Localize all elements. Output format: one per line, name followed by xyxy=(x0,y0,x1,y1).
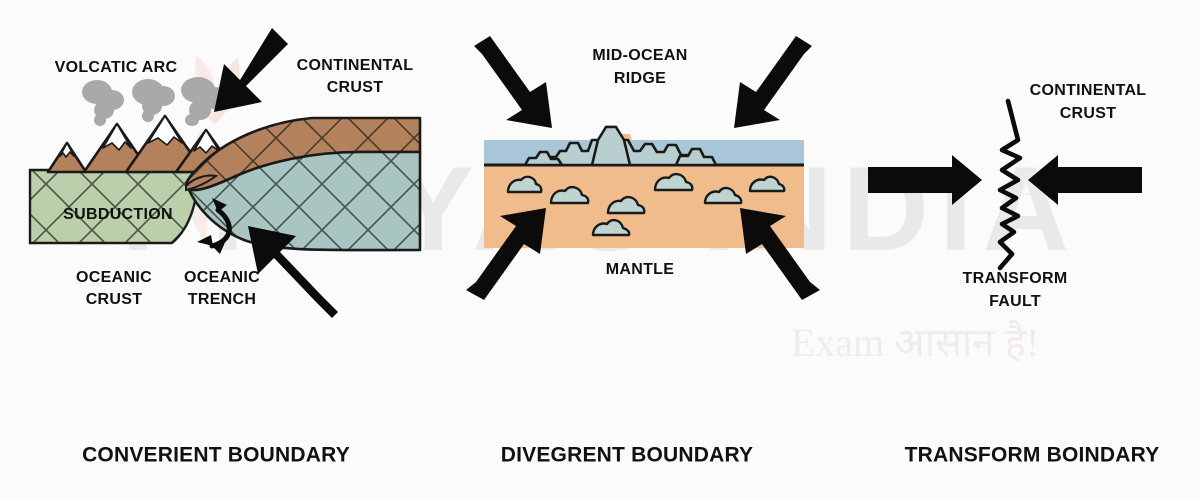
panel-captions: CONVERIENT BOUNDARY DIVEGRENT BOUNDARY T… xyxy=(82,444,1159,467)
label-volcanic-arc: VOLCATIC ARC xyxy=(55,59,178,76)
label-oceanic-crust: OCEANIC xyxy=(76,269,152,286)
label-oceanic-trench-line2: TRENCH xyxy=(188,291,256,308)
upper-left-arrow xyxy=(474,36,552,128)
label-continental-crust-line2: CRUST xyxy=(327,79,384,96)
label-mid-ocean-ridge: MID-OCEAN xyxy=(592,47,687,64)
label-transform-continental-crust-line2: CRUST xyxy=(1060,105,1117,122)
smoke-plume-icon xyxy=(82,77,228,126)
caption-divergent: DIVEGRENT BOUNDARY xyxy=(501,444,754,467)
upper-right-arrow xyxy=(734,36,812,128)
label-subduction: SUBDUCTION xyxy=(63,206,173,223)
continental-plate-arrow xyxy=(214,28,288,112)
label-continental-crust: CONTINENTAL xyxy=(297,57,414,74)
label-mid-ocean-ridge-line2: RIDGE xyxy=(614,70,666,87)
caption-convergent: CONVERIENT BOUNDARY xyxy=(82,444,350,467)
label-oceanic-trench: OCEANIC xyxy=(184,269,260,286)
label-mantle: MANTLE xyxy=(606,261,674,278)
plate-boundary-diagram: PRAYAS INDIA Exam आसान है! ® xyxy=(0,0,1200,501)
label-transform-fault-line2: FAULT xyxy=(989,293,1041,310)
label-oceanic-crust-line2: CRUST xyxy=(86,291,143,308)
label-transform-continental-crust: CONTINENTAL xyxy=(1030,82,1147,99)
watermark-tagline: Exam आसान है! xyxy=(791,320,1039,365)
label-transform-fault: TRANSFORM xyxy=(963,270,1068,287)
caption-transform: TRANSFORM BOINDARY xyxy=(905,444,1160,467)
